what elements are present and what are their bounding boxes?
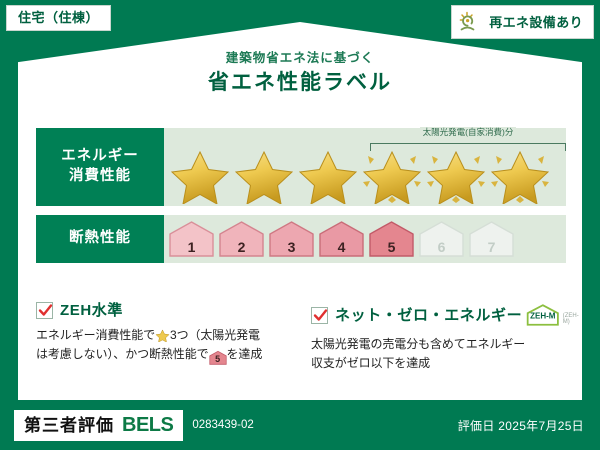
- label-subtitle: 建築物省エネ法に基づく: [0, 52, 600, 65]
- zeh-desc-part3: を達成: [227, 347, 263, 361]
- zeh-standard-column: ZEH水準 エネルギー消費性能で3つ（太陽光発電 は考慮しない）、かつ断熱性能で…: [36, 302, 293, 372]
- net-zero-energy-title: ネット・ゼロ・エネルギー: [335, 308, 522, 323]
- building-type-label: 住宅（住棟）: [18, 10, 99, 25]
- insulation-grade-2: 2: [218, 221, 265, 258]
- label-title-block: 建築物省エネ法に基づく 省エネ性能ラベル: [0, 52, 600, 93]
- inline-grade-badge-icon: 5: [209, 350, 227, 366]
- insulation-grade-4: 4: [318, 221, 365, 258]
- insulation-grade-5: 5: [368, 221, 415, 258]
- nze-desc-part1: 太陽光発電の売電分も含めてエネルギー: [311, 337, 525, 351]
- zeh-standard-header: ZEH水準: [36, 302, 293, 319]
- renewable-badge-label: 再エネ設備あり: [489, 16, 583, 29]
- zeh-standard-checkbox[interactable]: [36, 302, 53, 319]
- performance-rows: エネルギー 消費性能 太陽光発電(自家消費)分: [36, 128, 566, 272]
- zeh-desc-part1: エネルギー消費性能で: [36, 328, 155, 342]
- star-2: [232, 142, 296, 204]
- star-1: [168, 142, 232, 204]
- net-zero-energy-column: ネット・ゼロ・エネルギー ZEH-M (ZEH-M) 太陽光発電の売電分も含めて…: [311, 302, 568, 372]
- bracket-caption-wrap: 太陽光発電(自家消費)分: [370, 128, 566, 137]
- zeh-m-logo-sub: (ZEH-M): [563, 313, 583, 328]
- grade-number: 7: [488, 240, 496, 258]
- bels-certification-box: 第三者評価 BELS: [14, 410, 183, 441]
- star-6: [488, 142, 552, 204]
- star-3: [296, 142, 360, 204]
- building-type-tag: 住宅（住棟）: [6, 5, 111, 31]
- insulation-grade-3: 3: [268, 221, 315, 258]
- grade-number: 3: [288, 240, 296, 258]
- label-main-title: 省エネ性能ラベル: [0, 72, 600, 93]
- grade-number: 6: [438, 240, 446, 258]
- zeh-m-logo: ZEH-M (ZEH-M): [525, 302, 583, 328]
- energy-stars-panel: 太陽光発電(自家消費)分: [164, 128, 566, 206]
- energy-label-line1: エネルギー: [61, 147, 139, 167]
- net-zero-energy-checkbox[interactable]: [311, 307, 328, 324]
- bels-en-label: BELS: [122, 415, 173, 435]
- grade-number: 5: [388, 240, 396, 258]
- energy-performance-label: 住宅（住棟） 再エネ設備あり 建築物省エネ法に基づく 省エネ性能ラベル: [0, 0, 600, 450]
- insulation-performance-row: 断熱性能 1 2 3: [36, 215, 566, 263]
- star-rating: [168, 142, 560, 204]
- zeh-desc-star-count: 3つ（太陽光発電: [170, 328, 260, 342]
- energy-performance-label: エネルギー 消費性能: [36, 128, 164, 206]
- zeh-desc-part2: は考慮しない）、かつ断熱性能で: [36, 347, 209, 361]
- insulation-grade-6: 6: [418, 221, 465, 258]
- net-zero-energy-description: 太陽光発電の売電分も含めてエネルギー 収支がゼロ以下を達成: [311, 335, 568, 372]
- insulation-performance-label: 断熱性能: [36, 215, 164, 263]
- insulation-grade-1: 1: [168, 221, 215, 258]
- zeh-standard-title: ZEH水準: [60, 303, 123, 318]
- grade-number: 1: [188, 240, 196, 258]
- renewable-equipment-badge: 再エネ設備あり: [451, 5, 594, 39]
- bels-jp-label: 第三者評価: [24, 417, 114, 434]
- grade-number: 2: [238, 240, 246, 258]
- solar-bracket-caption: 太陽光発電(自家消費)分: [420, 127, 517, 137]
- inline-grade-number: 5: [209, 350, 227, 369]
- evaluation-date: 評価日 2025年7月25日: [458, 417, 584, 434]
- insulation-grade-scale: 1 2 3 4 5: [168, 221, 515, 258]
- zeh-standard-description: エネルギー消費性能で3つ（太陽光発電 は考慮しない）、かつ断熱性能で5を達成: [36, 326, 293, 366]
- insulation-label-text: 断熱性能: [69, 229, 131, 249]
- zeh-criteria-section: ZEH水準 エネルギー消費性能で3つ（太陽光発電 は考慮しない）、かつ断熱性能で…: [36, 302, 568, 372]
- star-5: [424, 142, 488, 204]
- energy-label-line2: 消費性能: [69, 167, 131, 187]
- grade-number: 4: [338, 240, 346, 258]
- insulation-grades-panel: 1 2 3 4 5: [164, 215, 566, 263]
- svg-text:ZEH-M: ZEH-M: [530, 312, 556, 321]
- net-zero-energy-header: ネット・ゼロ・エネルギー ZEH-M (ZEH-M): [311, 302, 568, 328]
- label-footer: 第三者評価 BELS 0283439-02 評価日 2025年7月25日: [0, 400, 600, 450]
- bels-certificate-number: 0283439-02: [192, 419, 253, 431]
- nze-desc-part2: 収支がゼロ以下を達成: [311, 356, 430, 370]
- bracket-tick-right: [565, 143, 566, 151]
- sun-renewable-icon: [458, 10, 484, 34]
- insulation-grade-7: 7: [468, 221, 515, 258]
- star-4: [360, 142, 424, 204]
- inline-star-icon: [155, 329, 170, 344]
- energy-performance-row: エネルギー 消費性能 太陽光発電(自家消費)分: [36, 128, 566, 206]
